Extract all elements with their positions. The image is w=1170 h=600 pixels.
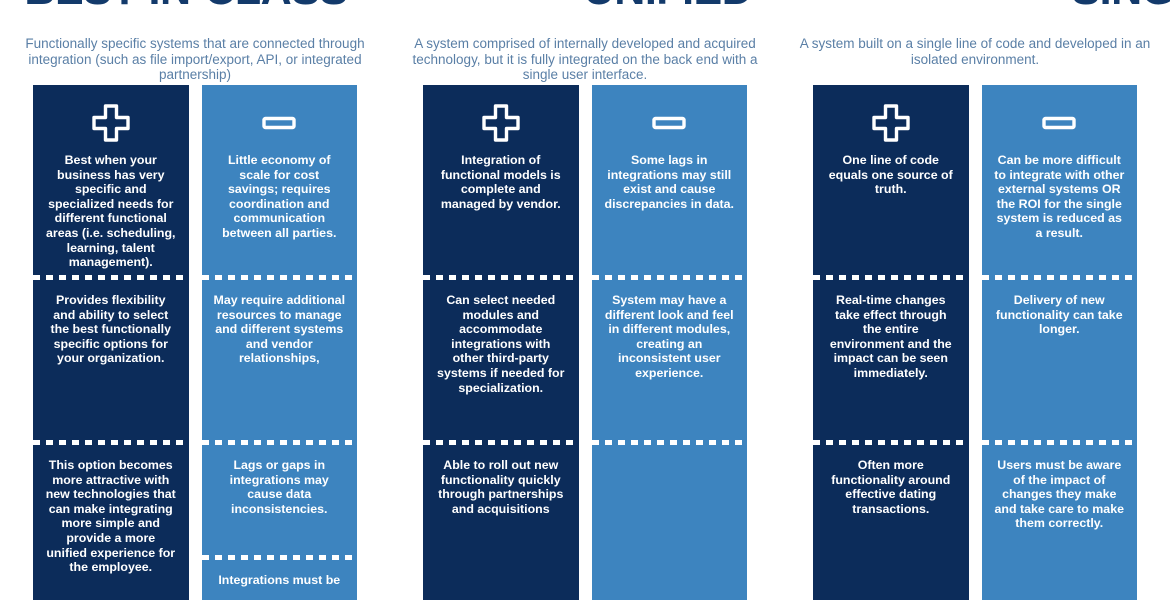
column-description-best-in-class: Functionally specific systems that are c… bbox=[12, 36, 378, 83]
pro-item: Often more functionality around effectiv… bbox=[813, 440, 969, 600]
con-stack-best-in-class: Little economy of scale for cost savings… bbox=[202, 85, 358, 600]
pro-stack-single: One line of code equals one source of tr… bbox=[813, 85, 969, 600]
column-body-best-in-class: Best when your business has very specifi… bbox=[33, 85, 357, 600]
con-item: Little economy of scale for cost savings… bbox=[202, 85, 358, 275]
column-unified: Integration of functional models is comp… bbox=[390, 85, 780, 600]
con-item-text: System may have a different look and fee… bbox=[604, 293, 736, 381]
title-band: BEST-IN-CLASS VERSUS UNIFIED VERSUS SING… bbox=[0, 0, 1170, 18]
column-title-unified: UNIFIED bbox=[482, 0, 854, 18]
column-body-unified: Integration of functional models is comp… bbox=[423, 85, 747, 600]
pro-item: Able to roll out new functionality quick… bbox=[423, 440, 579, 600]
con-item: Lags or gaps in integrations may cause d… bbox=[202, 440, 358, 555]
pro-item: Can select needed modules and accommodat… bbox=[423, 275, 579, 440]
pro-item: Integration of functional models is comp… bbox=[423, 85, 579, 275]
con-item: Delivery of new functionality can take l… bbox=[982, 275, 1138, 440]
pro-con-pair: One line of code equals one source of tr… bbox=[813, 85, 1137, 600]
con-item bbox=[592, 440, 748, 600]
con-item: Can be more difficult to integrate with … bbox=[982, 85, 1138, 275]
pro-item-text: One line of code equals one source of tr… bbox=[825, 153, 957, 197]
column-body-single: One line of code equals one source of tr… bbox=[813, 85, 1137, 600]
plus-icon bbox=[825, 103, 957, 143]
pro-item: This option becomes more attractive with… bbox=[33, 440, 189, 600]
plus-icon bbox=[45, 103, 177, 143]
pro-item: One line of code equals one source of tr… bbox=[813, 85, 969, 275]
column-best-in-class: Best when your business has very specifi… bbox=[0, 85, 390, 600]
con-item: May require additional resources to mana… bbox=[202, 275, 358, 440]
column-single: One line of code equals one source of tr… bbox=[780, 85, 1170, 600]
con-item: Some lags in integrations may still exis… bbox=[592, 85, 748, 275]
description-cell-2: A system comprised of internally develop… bbox=[390, 36, 780, 83]
description-band: Functionally specific systems that are c… bbox=[0, 36, 1170, 83]
con-item: Users must be aware of the impact of cha… bbox=[982, 440, 1138, 600]
infographic-page: BEST-IN-CLASS VERSUS UNIFIED VERSUS SING… bbox=[0, 0, 1170, 600]
con-item-text: May require additional resources to mana… bbox=[214, 293, 346, 366]
pro-item-text: Can select needed modules and accommodat… bbox=[435, 293, 567, 395]
con-item: Integrations must be bbox=[202, 555, 358, 600]
pro-con-pair: Integration of functional models is comp… bbox=[423, 85, 747, 600]
pro-item-text: Real-time changes take effect through th… bbox=[825, 293, 957, 381]
pro-con-pair: Best when your business has very specifi… bbox=[33, 85, 357, 600]
con-item-text: Integrations must be bbox=[214, 573, 346, 588]
con-stack-single: Can be more difficult to integrate with … bbox=[982, 85, 1138, 600]
con-item-text: Some lags in integrations may still exis… bbox=[604, 153, 736, 211]
con-item-text: Users must be aware of the impact of cha… bbox=[994, 458, 1126, 531]
minus-icon bbox=[604, 103, 736, 143]
description-cell-1: Functionally specific systems that are c… bbox=[0, 36, 390, 83]
con-item: System may have a different look and fee… bbox=[592, 275, 748, 440]
pro-item-text: Best when your business has very specifi… bbox=[45, 153, 177, 270]
plus-icon bbox=[435, 103, 567, 143]
pro-item: Best when your business has very specifi… bbox=[33, 85, 189, 275]
pro-stack-best-in-class: Best when your business has very specifi… bbox=[33, 85, 189, 600]
pro-item-text: Provides flexibility and ability to sele… bbox=[45, 293, 177, 366]
pro-item-text: Able to roll out new functionality quick… bbox=[435, 458, 567, 516]
con-item-text: Delivery of new functionality can take l… bbox=[994, 293, 1126, 337]
pro-item-text: This option becomes more attractive with… bbox=[45, 458, 177, 575]
pro-stack-unified: Integration of functional models is comp… bbox=[423, 85, 579, 600]
versus-label-1: VERSUS bbox=[372, 0, 482, 18]
comparison-columns: Best when your business has very specifi… bbox=[0, 85, 1170, 600]
con-item-text: Little economy of scale for cost savings… bbox=[214, 153, 346, 241]
con-item-text: Lags or gaps in integrations may cause d… bbox=[214, 458, 346, 516]
pro-item-text: Often more functionality around effectiv… bbox=[825, 458, 957, 516]
column-description-single: A system built on a single line of code … bbox=[792, 36, 1158, 67]
pro-item: Real-time changes take effect through th… bbox=[813, 275, 969, 440]
pro-item: Provides flexibility and ability to sele… bbox=[33, 275, 189, 440]
versus-label-2: VERSUS bbox=[854, 0, 964, 18]
pro-item-text: Integration of functional models is comp… bbox=[435, 153, 567, 211]
con-stack-unified: Some lags in integrations may still exis… bbox=[592, 85, 748, 600]
minus-icon bbox=[214, 103, 346, 143]
column-title-best-in-class: BEST-IN-CLASS bbox=[0, 0, 372, 18]
con-item-text: Can be more difficult to integrate with … bbox=[994, 153, 1126, 241]
column-title-single: SINGLE bbox=[964, 0, 1170, 18]
minus-icon bbox=[994, 103, 1126, 143]
column-description-unified: A system comprised of internally develop… bbox=[402, 36, 768, 83]
description-cell-3: A system built on a single line of code … bbox=[780, 36, 1170, 83]
